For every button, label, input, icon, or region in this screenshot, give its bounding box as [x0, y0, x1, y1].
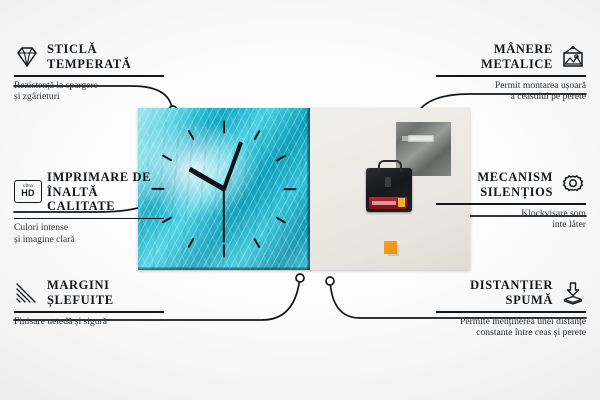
feature-header: STICLĂTEMPERATĂ: [14, 42, 164, 71]
feature-subtitle: Permite menținerea unei distanțeconstant…: [436, 316, 586, 339]
clock-tick: [276, 216, 286, 223]
feature-sub-line1: Rezistență la spargere: [14, 80, 98, 91]
feature-divider: [436, 311, 586, 313]
feature-subtitle: Permit montarea ușoarăa ceasului pe pere…: [436, 80, 586, 103]
feature-sub-line2: inte låter: [552, 219, 586, 230]
picture-hanger-icon: [560, 45, 586, 69]
battery-label: [372, 201, 396, 205]
clock-tick: [253, 130, 260, 140]
feature-title-line2: ȘLEFUITE: [47, 293, 114, 307]
clock-tick: [276, 154, 286, 161]
feature-title: MECANISMSILENȚIOS: [477, 170, 553, 199]
feature-title-line1: DISTANȚIER: [470, 278, 553, 292]
feature-sub-line2: constante între ceas și perete: [476, 327, 586, 338]
mechanism-hanger-loop: [378, 160, 402, 172]
hd-label: HD: [21, 189, 34, 198]
feature-header: MECANISMSILENȚIOS: [436, 170, 586, 199]
hanger-slot-secondary: [402, 136, 411, 141]
feature-subtitle: Culori intenseși imagine clară: [14, 222, 164, 245]
clock-tick: [284, 188, 297, 190]
feature-divider: [14, 75, 164, 77]
diamond-icon: [14, 45, 40, 69]
mechanism-shaft: [385, 177, 391, 187]
feature-title-line1: MECANISM: [477, 170, 553, 184]
clock-tick: [253, 237, 260, 247]
battery: [369, 197, 407, 209]
feature-divider: [436, 203, 586, 205]
clock-tick: [187, 237, 194, 247]
feature-title-line1: IMPRIMARE DE: [47, 170, 151, 184]
feature-tempered-glass: STICLĂTEMPERATĂ Rezistență la spargereși…: [14, 42, 164, 103]
feature-title-line1: STICLĂ: [47, 42, 97, 56]
feature-divider: [436, 75, 586, 77]
feature-title-line2: SPUMĂ: [506, 293, 553, 307]
feature-title: MARGINIȘLEFUITE: [47, 278, 114, 307]
feature-header: MÂNEREMETALICE: [436, 42, 586, 71]
clock-tick: [162, 154, 172, 161]
feature-title-line2: METALICE: [481, 57, 553, 71]
feature-sub-line1: Klockvisare som: [521, 208, 586, 219]
feature-header: MARGINIȘLEFUITE: [14, 278, 164, 307]
feature-sub-line2: a ceasului pe perete: [511, 91, 586, 102]
infographic-canvas: STICLĂTEMPERATĂ Rezistență la spargereși…: [0, 0, 600, 400]
foam-spacer-icon: [560, 281, 586, 305]
feature-sub-line1: Permite menținerea unei distanțe: [460, 316, 586, 327]
feature-metal-handles: MÂNEREMETALICE Permit montarea ușoarăa c…: [436, 42, 586, 103]
clock-minute-hand: [222, 141, 243, 189]
feature-header: DISTANȚIERSPUMĂ: [436, 278, 586, 307]
feature-title: MÂNEREMETALICE: [481, 42, 553, 71]
feature-subtitle: Klockvisare sominte låter: [436, 208, 586, 231]
connector-dot-3: [296, 274, 304, 282]
clock-tick: [187, 130, 194, 140]
feature-title: IMPRIMARE DEÎNALTĂ CALITATE: [47, 170, 164, 214]
feature-sub-line1: Permit montarea ușoară: [495, 80, 586, 91]
feature-hq-printing: ultra HD IMPRIMARE DEÎNALTĂ CALITATE Cul…: [14, 170, 164, 245]
feature-sub-line2: și imagine clară: [14, 234, 75, 245]
feature-title-line1: MÂNERE: [494, 42, 553, 56]
clock-hour-hand: [188, 167, 225, 191]
feature-sub-line1: Culori intense: [14, 222, 68, 233]
bevel-edge-icon: [14, 281, 40, 305]
connector-dot-6: [326, 277, 334, 285]
clock-tick: [223, 121, 225, 134]
feature-title-line1: MARGINI: [47, 278, 110, 292]
clock-second-hand: [223, 189, 225, 243]
feature-foam-spacer: DISTANȚIERSPUMĂ Permite menținerea unei …: [436, 278, 586, 339]
battery-plus-terminal: [398, 198, 405, 207]
feature-sub-line2: și zgârieturi: [14, 91, 60, 102]
foam-spacer: [384, 241, 397, 254]
clock-mechanism: [366, 168, 412, 212]
feature-title-line2: SILENȚIOS: [480, 185, 553, 199]
gear-icon: [560, 173, 586, 197]
feature-title: DISTANȚIERSPUMĂ: [470, 278, 553, 307]
feature-title-line2: ÎNALTĂ CALITATE: [47, 185, 115, 214]
clock-tick: [223, 245, 225, 258]
feature-sub-line1: Finisare netedă și sigură: [14, 316, 107, 327]
ultra-hd-icon: ultra HD: [14, 180, 40, 204]
feature-divider: [14, 311, 164, 313]
feature-title-line2: TEMPERATĂ: [47, 57, 131, 71]
feature-divider: [14, 218, 164, 220]
feature-header: ultra HD IMPRIMARE DEÎNALTĂ CALITATE: [14, 170, 164, 214]
feature-silent-mechanism: MECANISMSILENȚIOS Klockvisare sominte lå…: [436, 170, 586, 231]
hanger-slot: [408, 135, 434, 142]
feature-title: STICLĂTEMPERATĂ: [47, 42, 131, 71]
feature-subtitle: Rezistență la spargereși zgârieturi: [14, 80, 164, 103]
feature-polished-edges: MARGINIȘLEFUITE Finisare netedă și sigur…: [14, 278, 164, 327]
feature-subtitle: Finisare netedă și sigură: [14, 316, 164, 328]
